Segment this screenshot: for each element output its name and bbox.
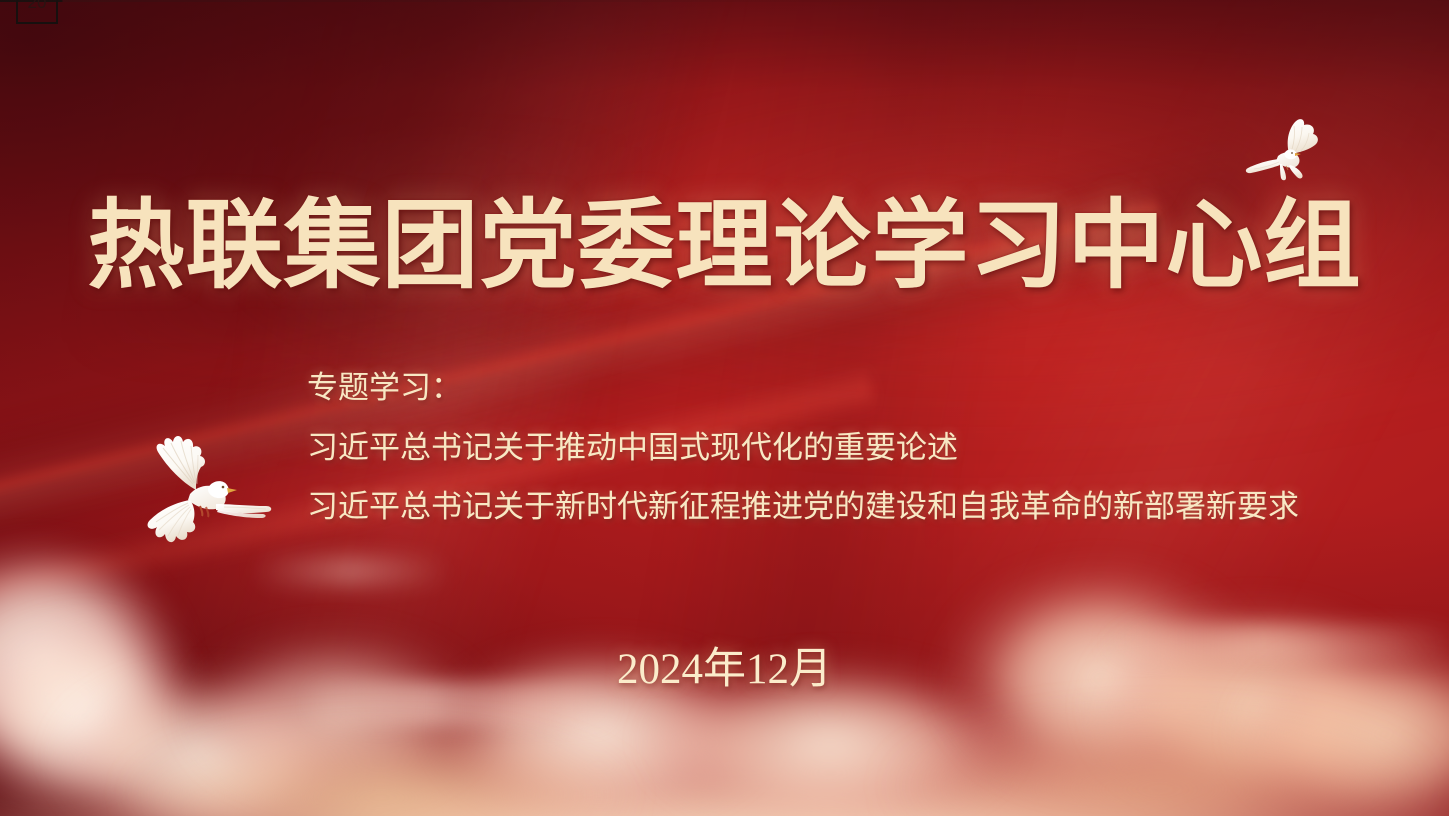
slide-date: 2024年12月 — [0, 634, 1449, 696]
dove-icon-top-right — [1242, 116, 1334, 192]
cloud-wisp — [250, 556, 450, 586]
dove-icon-left — [132, 428, 282, 556]
presentation-slide: 热联集团党委理论学习中心组 专题学习： 习近平总书记关于推动中国式现代化的重要论… — [0, 0, 1449, 816]
subject-line: 习近平总书记关于新时代新征程推进党的建设和自我革命的新部署新要求 — [307, 491, 1407, 522]
subject-block: 专题学习： 习近平总书记关于推动中国式现代化的重要论述 习近平总书记关于新时代新… — [307, 372, 1407, 522]
page-title: 热联集团党委理论学习中心组 — [0, 196, 1449, 299]
slide-number-badge[interactable]: 20 — [16, 0, 58, 24]
subject-label: 专题学习： — [307, 372, 1407, 403]
subject-line: 习近平总书记关于推动中国式现代化的重要论述 — [307, 432, 1407, 463]
top-edge-rule — [0, 0, 1449, 2]
